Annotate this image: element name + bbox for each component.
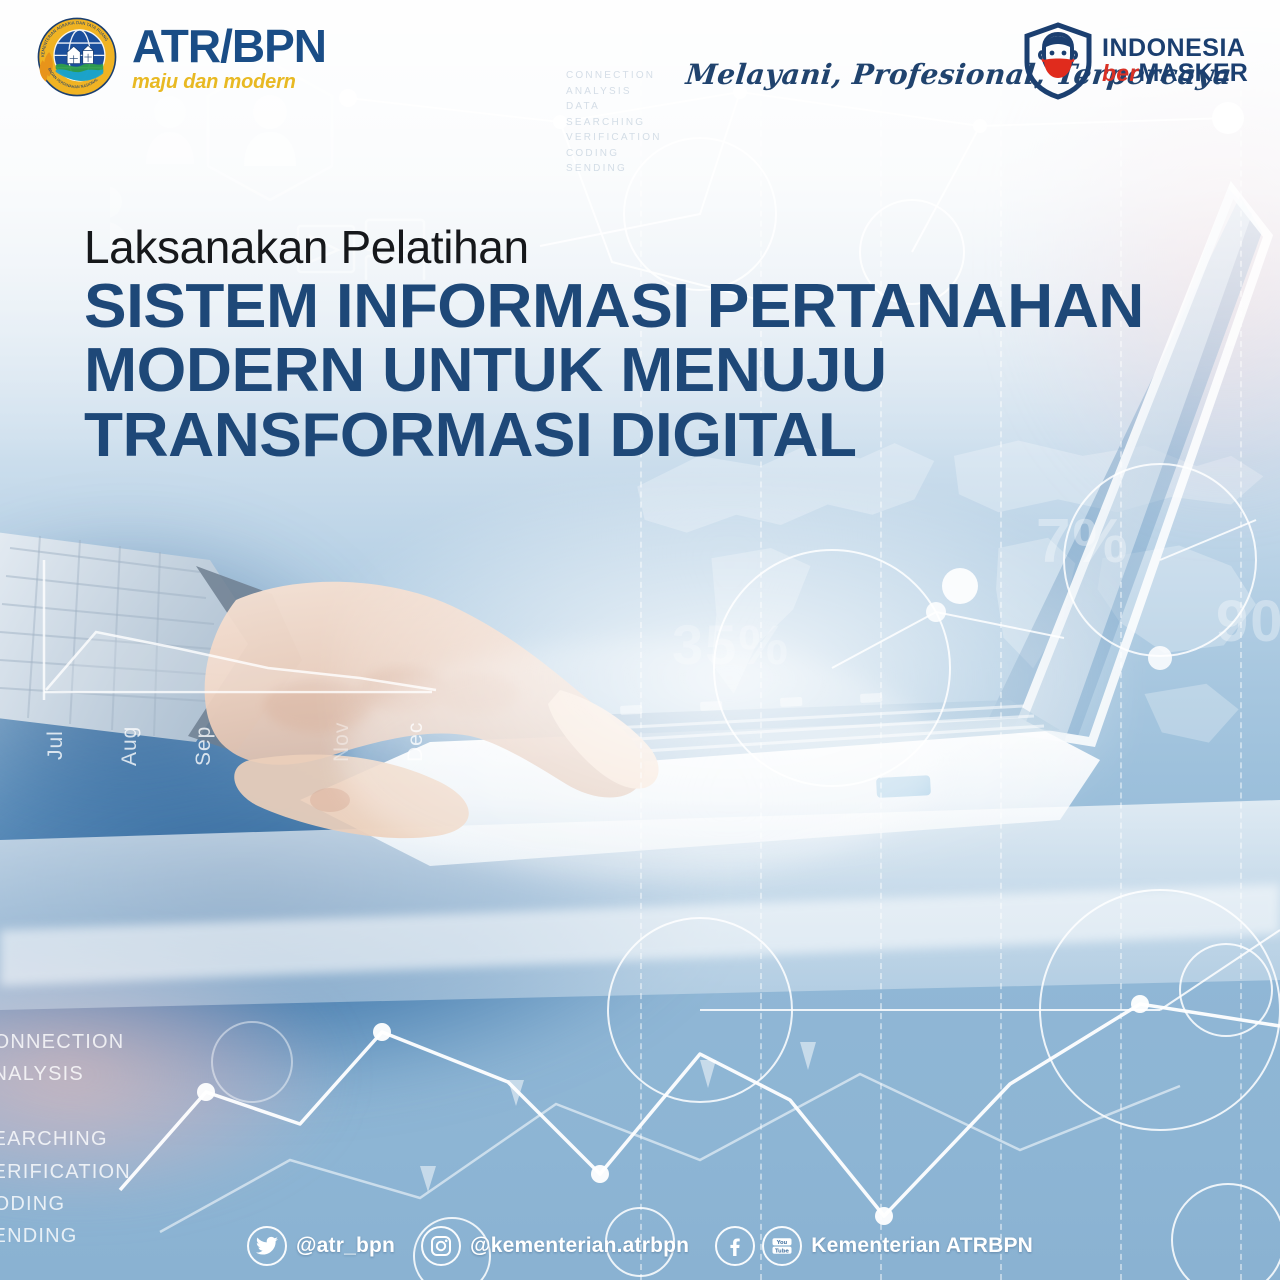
bermasker-ber-text: ber bbox=[1102, 60, 1138, 86]
svg-text:Tube: Tube bbox=[775, 1248, 789, 1254]
headline-block: Laksanakan Pelatihan SISTEM INFORMASI PE… bbox=[84, 222, 1204, 468]
social-entry-twitter[interactable]: @atr_bpn bbox=[247, 1226, 421, 1266]
process-step: VERIFICATION bbox=[0, 1156, 131, 1188]
month-label-jul: Jul bbox=[44, 730, 68, 760]
facebook-icon[interactable] bbox=[715, 1226, 755, 1266]
bermasker-masker-text: MASKER bbox=[1138, 59, 1248, 87]
process-step: VERIFICATION bbox=[566, 130, 662, 146]
svg-text:You: You bbox=[776, 1240, 788, 1246]
process-step: SENDING bbox=[566, 161, 662, 177]
twitter-handle[interactable]: @atr_bpn bbox=[296, 1234, 395, 1258]
logo-main-text: ATR/BPN bbox=[132, 23, 326, 69]
instagram-icon[interactable] bbox=[421, 1226, 461, 1266]
process-step-list-large: CONNECTION ANALYSIS DATA SEARCHING VERIF… bbox=[0, 1026, 131, 1253]
month-label-sep: Sep bbox=[192, 726, 216, 766]
poster-canvas: 7% 35% 90% bbox=[0, 0, 1280, 1280]
process-step: CODING bbox=[566, 146, 662, 162]
instagram-handle[interactable]: @kementerian.atrbpn bbox=[470, 1234, 689, 1258]
percent-label-90: 90% bbox=[1216, 588, 1280, 655]
indonesia-bermasker-logo: INDONESIA berMASKER bbox=[1022, 22, 1248, 100]
youtube-icon[interactable]: You Tube bbox=[762, 1226, 802, 1266]
headline-main: SISTEM INFORMASI PERTANAHAN MODERN UNTUK… bbox=[84, 275, 1238, 468]
process-step: SEARCHING bbox=[0, 1123, 131, 1155]
month-label-aug: Aug bbox=[118, 726, 142, 766]
month-label-dec: Dec bbox=[404, 722, 428, 762]
headline-kicker: Laksanakan Pelatihan bbox=[84, 222, 1204, 273]
bermasker-wordmark: INDONESIA berMASKER bbox=[1102, 36, 1248, 87]
social-entry-facebook[interactable]: You Tube Kementerian ATRBPN bbox=[715, 1226, 1033, 1266]
percent-label-35: 35% bbox=[672, 612, 790, 677]
headline-line-2: MODERN UNTUK MENUJU bbox=[84, 339, 1238, 403]
atr-bpn-globe-emblem-icon: KEMENTERIAN AGRARIA DAN TATA RUANG BADAN… bbox=[36, 16, 118, 98]
social-entry-instagram[interactable]: @kementerian.atrbpn bbox=[421, 1226, 715, 1266]
month-label-nov: Nov bbox=[330, 722, 354, 762]
social-media-bar: @atr_bpn @kementerian.atrbpn You bbox=[0, 1226, 1280, 1266]
youtube-handle[interactable]: Kementerian ATRBPN bbox=[811, 1234, 1033, 1258]
headline-line-3: TRANSFORMASI DIGITAL bbox=[84, 404, 1238, 468]
atr-bpn-logo-lockup: KEMENTERIAN AGRARIA DAN TATA RUANG BADAN… bbox=[36, 16, 326, 98]
masked-face-shield-icon bbox=[1022, 22, 1094, 100]
bermasker-line1: INDONESIA bbox=[1102, 36, 1248, 62]
twitter-icon[interactable] bbox=[247, 1226, 287, 1266]
headline-line-1: SISTEM INFORMASI PERTANAHAN bbox=[84, 275, 1238, 339]
process-step: CONNECTION bbox=[0, 1026, 131, 1058]
atr-bpn-wordmark: ATR/BPN maju dan modern bbox=[132, 23, 326, 92]
poster-header: KEMENTERIAN AGRARIA DAN TATA RUANG BADAN… bbox=[0, 0, 1280, 130]
process-step: ANALYSIS bbox=[0, 1058, 131, 1090]
percent-label-7: 7% bbox=[1036, 506, 1130, 577]
bermasker-line2: berMASKER bbox=[1102, 61, 1248, 87]
process-step: CODING bbox=[0, 1188, 131, 1220]
logo-tagline-text: maju dan modern bbox=[132, 72, 326, 92]
